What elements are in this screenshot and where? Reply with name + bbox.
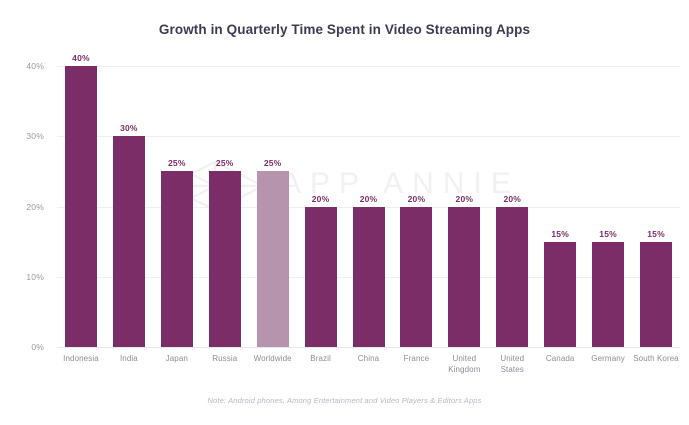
x-axis-category-label: United Kingdom <box>440 353 488 375</box>
y-axis-tick-label: 30% <box>0 131 44 141</box>
bar[interactable] <box>400 66 432 347</box>
bar[interactable] <box>209 66 241 347</box>
bar-rect <box>400 207 432 348</box>
bar-value-label: 25% <box>243 158 303 168</box>
bar-rect <box>209 171 241 347</box>
gridline <box>57 347 680 348</box>
x-axis-category-label: Germany <box>584 353 632 364</box>
x-axis-category-label: Canada <box>536 353 584 364</box>
x-axis-category-label: Japan <box>153 353 201 364</box>
x-axis-category-label: Russia <box>201 353 249 364</box>
y-axis-tick-label: 20% <box>0 202 44 212</box>
bar-rect <box>113 136 145 347</box>
bar[interactable] <box>161 66 193 347</box>
bar[interactable] <box>353 66 385 347</box>
bar[interactable] <box>113 66 145 347</box>
x-axis-category-label: China <box>345 353 393 364</box>
bar-rect <box>305 207 337 348</box>
y-axis-tick-label: 10% <box>0 272 44 282</box>
bar[interactable] <box>640 66 672 347</box>
bar-rect <box>65 66 97 347</box>
x-axis-category-label: France <box>392 353 440 364</box>
bar[interactable] <box>305 66 337 347</box>
bar-rect <box>496 207 528 348</box>
bar[interactable] <box>257 66 289 347</box>
x-axis-category-label: Brazil <box>297 353 345 364</box>
x-axis-category-label: South Korea <box>632 353 680 364</box>
bar[interactable] <box>448 66 480 347</box>
bar-rect <box>161 171 193 347</box>
bar-rect <box>448 207 480 348</box>
plot-area <box>57 66 680 347</box>
bar-chart: Growth in Quarterly Time Spent in Video … <box>0 0 689 425</box>
chart-title: Growth in Quarterly Time Spent in Video … <box>0 22 689 37</box>
bar-rect <box>257 171 289 347</box>
bar[interactable] <box>65 66 97 347</box>
bar[interactable] <box>496 66 528 347</box>
bar-value-label: 40% <box>51 53 111 63</box>
y-axis-tick-label: 40% <box>0 61 44 71</box>
x-axis-category-label: India <box>105 353 153 364</box>
bar-value-label: 15% <box>626 229 686 239</box>
bar-value-label: 30% <box>99 123 159 133</box>
y-axis-tick-label: 0% <box>0 342 44 352</box>
chart-footnote: Note: Android phones, Among Entertainmen… <box>0 396 689 405</box>
x-axis-category-label: United States <box>488 353 536 375</box>
bar-rect <box>640 242 672 347</box>
bar[interactable] <box>592 66 624 347</box>
bar-rect <box>544 242 576 347</box>
bar-rect <box>592 242 624 347</box>
bar-value-label: 20% <box>482 194 542 204</box>
x-axis-category-label: Worldwide <box>249 353 297 364</box>
bar-rect <box>353 207 385 348</box>
x-axis-category-label: Indonesia <box>57 353 105 364</box>
bar[interactable] <box>544 66 576 347</box>
